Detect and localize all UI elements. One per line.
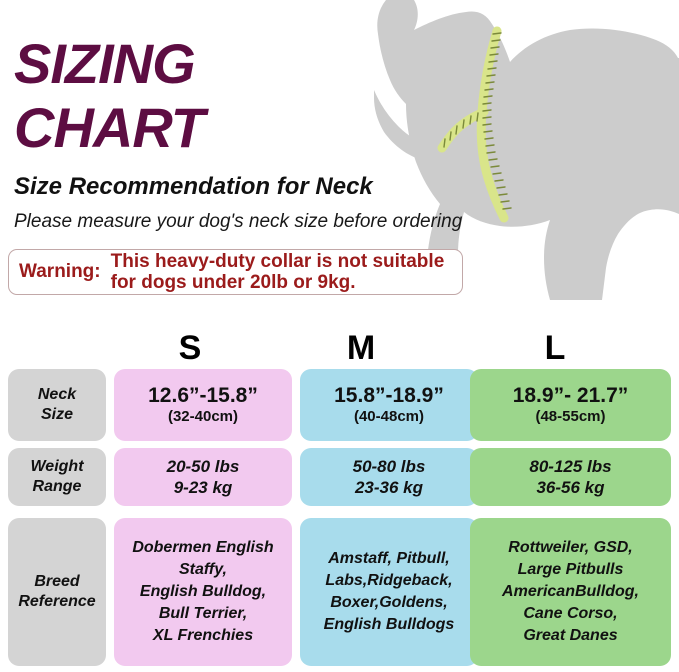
weight-lbs-m: 50-80 lbs bbox=[353, 456, 426, 477]
neck-size-inches-m: 15.8”-18.9” bbox=[334, 384, 444, 408]
size-header-m: M bbox=[331, 330, 391, 366]
warning-message: This heavy-duty collar is not suitable f… bbox=[111, 251, 445, 293]
breed-line: Large Pitbulls bbox=[518, 559, 624, 581]
weight-range-cell-m: 50-80 lbs 23-36 kg bbox=[300, 448, 478, 506]
row-label-neck-size-line-1: Neck bbox=[38, 385, 76, 405]
breed-line: Dobermen English bbox=[132, 537, 273, 559]
neck-size-cell-l: 18.9”- 21.7” (48-55cm) bbox=[470, 369, 671, 441]
neck-size-inches-s: 12.6”-15.8” bbox=[148, 384, 258, 408]
breed-line: Labs,Ridgeback, bbox=[325, 570, 452, 592]
breed-line: Rottweiler, GSD, bbox=[508, 537, 632, 559]
header-block: SIZING CHART Size Recommendation for Nec… bbox=[14, 36, 484, 234]
sizing-chart-page: SIZING CHART Size Recommendation for Nec… bbox=[0, 0, 679, 672]
warning-message-line-2: for dogs under 20lb or 9kg. bbox=[111, 272, 445, 293]
neck-size-cm-l: (48-55cm) bbox=[535, 408, 605, 426]
breed-line: Staffy, bbox=[179, 559, 227, 581]
breed-line: Cane Corso, bbox=[523, 603, 617, 625]
warning-box: Warning: This heavy-duty collar is not s… bbox=[8, 249, 463, 295]
breed-line: AmericanBulldog, bbox=[502, 581, 639, 603]
row-label-breed-reference: Breed Reference bbox=[8, 518, 106, 666]
weight-lbs-l: 80-125 lbs bbox=[529, 456, 611, 477]
page-title-line-1: SIZING bbox=[14, 36, 484, 92]
breed-line: English Bulldogs bbox=[324, 614, 455, 636]
size-header-s: S bbox=[160, 330, 220, 366]
neck-size-cell-m: 15.8”-18.9” (40-48cm) bbox=[300, 369, 478, 441]
breed-line: Boxer,Goldens, bbox=[330, 592, 447, 614]
page-title-line-2: CHART bbox=[14, 100, 484, 156]
row-label-weight-range-line-2: Range bbox=[33, 477, 82, 497]
weight-kg-l: 36-56 kg bbox=[536, 477, 604, 498]
page-subtitle: Size Recommendation for Neck bbox=[14, 172, 484, 202]
breed-line: Great Danes bbox=[523, 625, 617, 647]
neck-size-cm-m: (40-48cm) bbox=[354, 408, 424, 426]
weight-lbs-s: 20-50 lbs bbox=[167, 456, 240, 477]
row-label-weight-range-line-1: Weight bbox=[30, 457, 83, 477]
neck-size-cm-s: (32-40cm) bbox=[168, 408, 238, 426]
size-header-l: L bbox=[525, 330, 585, 366]
weight-range-cell-l: 80-125 lbs 36-56 kg bbox=[470, 448, 671, 506]
neck-size-inches-l: 18.9”- 21.7” bbox=[513, 384, 629, 408]
breed-line: Bull Terrier, bbox=[159, 603, 247, 625]
breed-line: English Bulldog, bbox=[140, 581, 266, 603]
row-label-neck-size-line-2: Size bbox=[41, 405, 73, 425]
warning-label: Warning: bbox=[19, 261, 101, 283]
breed-line: XL Frenchies bbox=[153, 625, 253, 647]
breed-reference-cell-s: Dobermen EnglishStaffy,English Bulldog,B… bbox=[114, 518, 292, 666]
weight-kg-s: 9-23 kg bbox=[174, 477, 233, 498]
breed-reference-cell-m: Amstaff, Pitbull,Labs,Ridgeback,Boxer,Go… bbox=[300, 518, 478, 666]
row-label-breed-reference-line-1: Breed bbox=[34, 572, 79, 592]
neck-size-cell-s: 12.6”-15.8” (32-40cm) bbox=[114, 369, 292, 441]
row-label-neck-size: Neck Size bbox=[8, 369, 106, 441]
warning-message-line-1: This heavy-duty collar is not suitable bbox=[111, 251, 445, 272]
measurement-instruction: Please measure your dog's neck size befo… bbox=[14, 210, 484, 234]
row-label-weight-range: Weight Range bbox=[8, 448, 106, 506]
breed-reference-cell-l: Rottweiler, GSD,Large PitbullsAmericanBu… bbox=[470, 518, 671, 666]
row-label-breed-reference-line-2: Reference bbox=[18, 592, 95, 612]
weight-range-cell-s: 20-50 lbs 9-23 kg bbox=[114, 448, 292, 506]
breed-line: Amstaff, Pitbull, bbox=[328, 548, 450, 570]
weight-kg-m: 23-36 kg bbox=[355, 477, 423, 498]
